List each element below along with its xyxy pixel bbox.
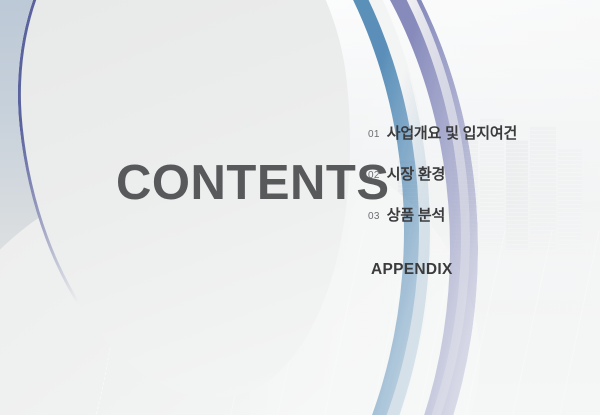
toc-item-02[interactable]: 02 시장 환경 [368, 163, 600, 204]
toc-item-03[interactable]: 03 상품 분석 [368, 204, 600, 245]
contents-slide: CONTENTS 01 사업개요 및 입지여건 02 시장 환경 03 상품 분… [0, 0, 600, 415]
toc-item-number: 03 [368, 211, 380, 222]
table-of-contents: 01 사업개요 및 입지여건 02 시장 환경 03 상품 분석 APPENDI… [368, 122, 600, 279]
toc-item-label: 사업개요 및 입지여건 [387, 122, 517, 143]
toc-appendix-label: APPENDIX [371, 261, 453, 279]
toc-item-number: 02 [368, 170, 380, 181]
page-title: CONTENTS [116, 159, 390, 208]
toc-item-number: 01 [368, 129, 380, 140]
toc-item-appendix[interactable]: APPENDIX [368, 261, 600, 279]
toc-item-01[interactable]: 01 사업개요 및 입지여건 [368, 122, 600, 163]
toc-item-label: 상품 분석 [387, 204, 445, 225]
toc-item-label: 시장 환경 [387, 163, 445, 184]
